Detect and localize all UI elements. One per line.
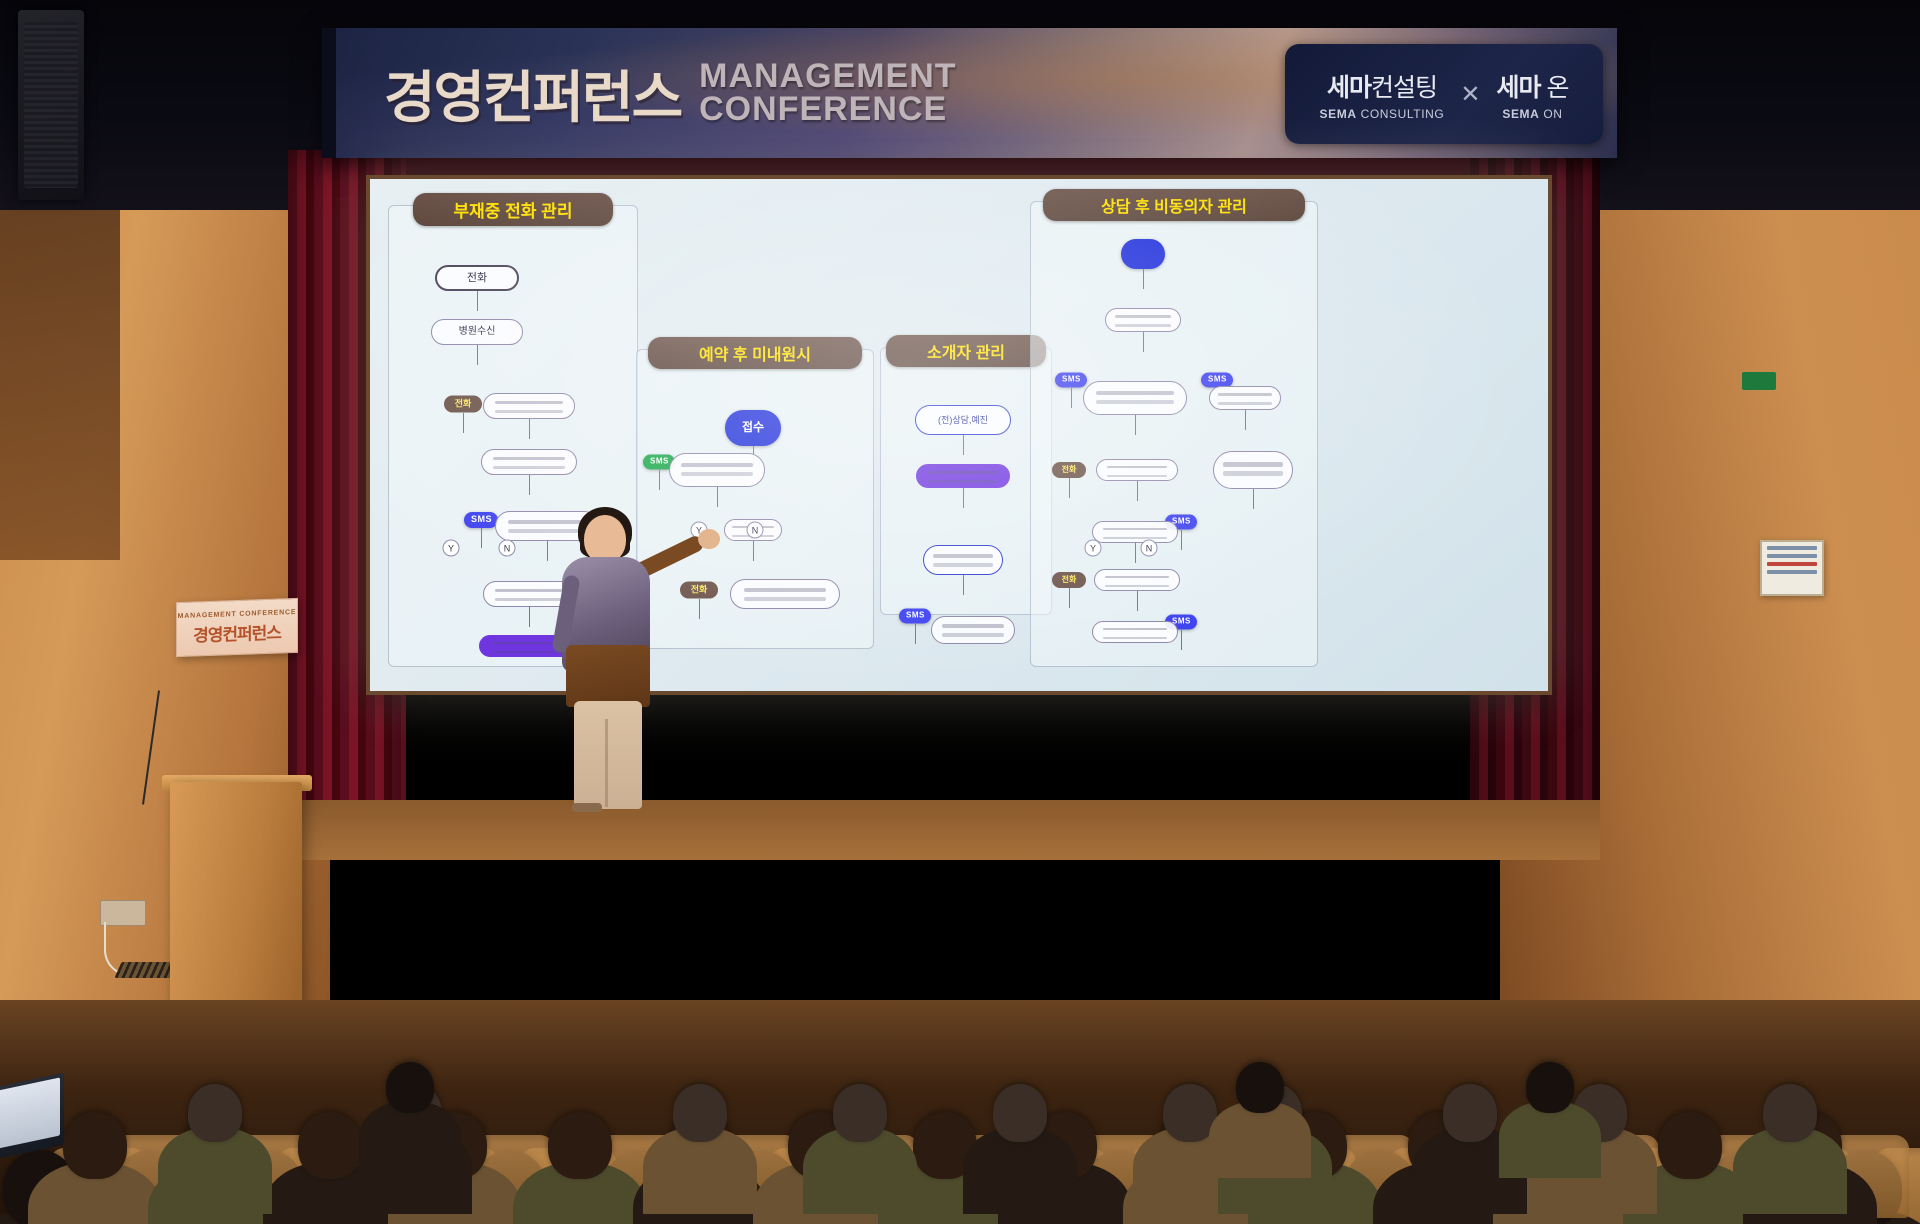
flow-node: SMS [464,512,498,528]
flow-connector [529,475,530,495]
exit-sign-icon [1742,372,1776,390]
flow-node [1092,621,1178,643]
flowchart-panel-non-consent: 상담 후 비동의자 관리SMSSMS전화SMS전화SMSYN [1030,201,1318,667]
flow-connector [1135,543,1136,563]
flowchart-panel-referrer: 소개자 관리(전)상담,예진SMS [880,347,1052,615]
flow-connector [1069,588,1070,608]
audience-member-head [833,1084,888,1142]
flow-connector [477,345,478,365]
flow-node [1213,451,1293,489]
podium-sign-korean: 경영컨퍼런스 [193,618,281,646]
speaker-cabinet-icon [18,10,84,200]
sema-consulting-en-thin: CONSULTING [1361,107,1445,121]
banner-title-en-line1: MANAGEMENT [699,60,956,93]
branch-label-yes: Y [1085,540,1102,557]
flow-node: 접수 [725,410,781,446]
audience-member-head [1763,1084,1818,1142]
podium [170,782,302,1022]
presenter-skirt [566,645,650,707]
audience-member-head [386,1062,435,1113]
flow-node [1209,386,1281,410]
notice-line [1767,570,1817,574]
panel-header-no-show: 예약 후 미내원시 [648,337,862,369]
audience-member-head [63,1112,127,1179]
flow-node: 전화 [444,396,482,413]
flow-connector [481,528,482,548]
flow-node [1092,521,1178,543]
audience-seating [0,1000,1920,1224]
audience-member-head [298,1112,362,1179]
banner-title-en-line2: CONFERENCE [699,93,956,126]
sema-on-en-bold: SEMA [1502,107,1539,121]
flow-node: 병원수신 [431,319,523,345]
flow-node: (전)상담,예진 [915,405,1011,435]
flow-connector [1143,332,1144,352]
conference-scene: 경영컨퍼런스 MANAGEMENT CONFERENCE 세마컨설팅 SEMA … [0,0,1920,1224]
flow-connector [1137,591,1138,611]
sema-on-en-thin: ON [1543,107,1562,121]
flow-node: SMS [1055,373,1087,388]
flow-node [669,453,765,487]
banner-title-korean: 경영컨퍼런스 [384,53,681,134]
flow-connector [1069,478,1070,498]
flow-connector [963,575,964,595]
flow-connector [463,413,464,433]
laptop-device [0,1073,64,1160]
banner-title-english: MANAGEMENT CONFERENCE [699,60,956,127]
sponsor-logo-plate: 세마컨설팅 SEMA CONSULTING ✕ 세마 온 SEMA ON [1285,44,1603,144]
notice-line [1767,546,1817,550]
sema-consulting-kr-thin: 컨설팅 [1371,74,1437,102]
audience-member-head [993,1084,1048,1142]
banner-left-edge [322,28,336,158]
audience-member-head [1443,1084,1498,1142]
audience-member-head [1236,1062,1285,1113]
sema-on-kr-bold: 세마 [1496,74,1540,102]
flow-connector [753,541,754,561]
flow-connector [717,487,718,507]
wall-notice-board [1760,540,1824,596]
flow-node [730,579,840,609]
flow-node [931,616,1015,644]
presenter [540,505,700,805]
audience-member-head [1526,1062,1575,1113]
branch-label-yes: Y [443,540,460,557]
audience-member-head [188,1084,243,1142]
branch-label-no: N [747,522,764,539]
panel-header-missed-call: 부재중 전화 관리 [413,193,613,226]
sema-consulting-en-bold: SEMA [1320,107,1357,121]
logo-sema-on: 세마 온 SEMA ON [1496,68,1568,121]
flow-node [1121,239,1165,269]
branch-label-no: N [499,540,516,557]
podium-sign: MANAGEMENT CONFERENCE 경영컨퍼런스 [176,598,298,657]
flow-connector [963,435,964,455]
sema-consulting-kr-bold: 세마 [1327,74,1371,102]
flow-connector [1071,388,1072,408]
branch-label-no: N [1141,540,1158,557]
banner-title-group: 경영컨퍼런스 MANAGEMENT CONFERENCE [384,53,957,134]
panel-header-referrer: 소개자 관리 [886,335,1046,367]
flow-node: 전화 [1052,462,1086,478]
presenter-hand [698,529,720,549]
audience-member-head [1658,1112,1722,1179]
flow-connector [529,419,530,439]
flow-connector [529,607,530,627]
presenter-shoe [572,803,602,812]
sema-on-kr-thin: 온 [1546,74,1568,102]
notice-line [1767,554,1817,558]
flow-connector [477,291,478,311]
flow-node [1096,459,1178,481]
logo-sema-consulting: 세마컨설팅 SEMA CONSULTING [1320,68,1445,121]
flow-connector [963,488,964,508]
flow-node: 전화 [1052,572,1086,588]
panel-header-non-consent: 상담 후 비동의자 관리 [1043,189,1305,221]
flow-connector [1143,269,1144,289]
flow-connector [915,624,916,644]
flow-connector [1181,630,1182,650]
conference-banner: 경영컨퍼런스 MANAGEMENT CONFERENCE 세마컨설팅 SEMA … [322,28,1617,158]
flow-node [483,393,575,419]
flow-connector [1245,410,1246,430]
audience-member-head [548,1112,612,1179]
flow-node: 전화 [435,265,519,291]
flow-node [923,545,1003,575]
presenter-head [584,515,626,563]
flow-node [1083,381,1187,415]
flow-connector [1135,415,1136,435]
flow-connector [659,470,660,490]
flow-connector [1253,489,1254,509]
notice-line-accent [1767,562,1817,566]
flow-node [1094,569,1180,591]
flow-connector [1181,530,1182,550]
logo-cross-icon: ✕ [1460,80,1480,109]
flow-node [481,449,577,475]
presenter-trousers [574,701,642,809]
flow-node [916,464,1010,488]
flow-connector [1137,481,1138,501]
flow-node: SMS [899,609,931,624]
flow-node [1105,308,1181,332]
audience-member-head [673,1084,728,1142]
